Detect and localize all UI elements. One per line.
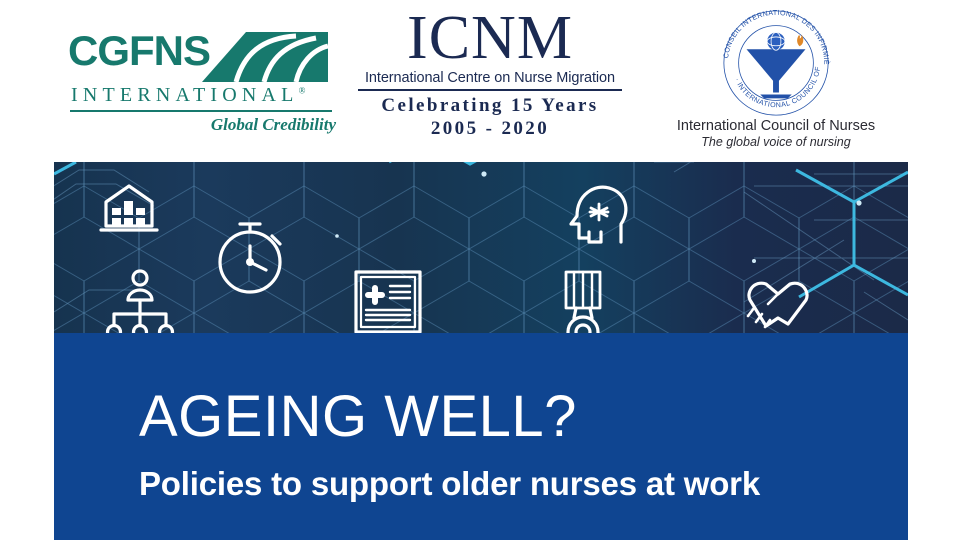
logo-strip: CGFNS INTERNATIONAL® Global Credibility … [0, 0, 960, 160]
hex-pattern-banner [54, 162, 908, 333]
icnm-full-name: International Centre on Nurse Migration [358, 71, 622, 87]
page-subtitle: Policies to support older nurses at work [139, 467, 760, 500]
icn-seal-icon: CONSEIL INTERNATIONAL DES INFIRMIÈRES · … [717, 4, 835, 122]
road-arc-icon [200, 26, 330, 84]
cgfns-wordmark: CGFNS [68, 30, 210, 72]
icn-logo: CONSEIL INTERNATIONAL DES INFIRMIÈRES · … [652, 4, 900, 156]
cgfns-logo: CGFNS INTERNATIONAL® Global Credibility [68, 22, 338, 140]
registered-mark-icon: ® [299, 85, 306, 95]
hex-banner-graphic [54, 162, 908, 333]
icnm-celebrating-label: Celebrating 15 Years [358, 94, 622, 118]
icn-tagline: The global voice of nursing [652, 135, 900, 150]
title-block: AGEING WELL? Policies to support older n… [54, 333, 908, 540]
icnm-wordmark: ICNM [358, 8, 622, 69]
icnm-divider [358, 89, 622, 91]
icn-name-label: International Council of Nurses [652, 118, 900, 135]
cgfns-divider [70, 110, 332, 112]
page-title: AGEING WELL? [139, 388, 577, 446]
cgfns-international-label: INTERNATIONAL® [71, 84, 305, 107]
icnm-logo: ICNM International Centre on Nurse Migra… [358, 8, 622, 148]
cgfns-tagline: Global Credibility [211, 115, 336, 135]
icnm-years-range: 2005 - 2020 [358, 117, 622, 141]
